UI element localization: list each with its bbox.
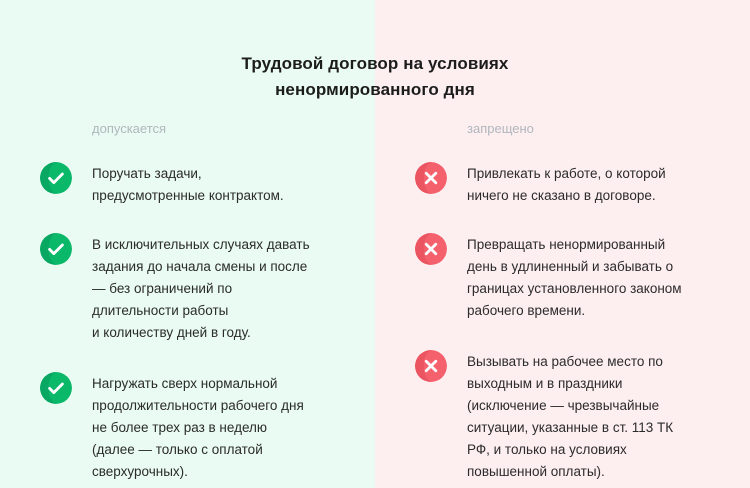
list-item-text: Привлекать к работе, о которой ничего не…	[467, 160, 666, 207]
cross-circle-icon	[415, 162, 447, 194]
list-item: В исключительных случаях давать задания …	[40, 231, 351, 344]
list-item-text: В исключительных случаях давать задания …	[92, 231, 310, 344]
allowed-column: допускается Поручать задачи, предусмотре…	[0, 120, 375, 483]
allowed-items-list: Поручать задачи, предусмотренные контрак…	[40, 160, 351, 483]
forbidden-column-label: запрещено	[467, 120, 726, 138]
allowed-column-label: допускается	[92, 120, 351, 138]
forbidden-column: запрещено Привлекать к работе, о которой…	[375, 120, 750, 483]
list-item: Вызывать на рабочее место по выходным и …	[415, 348, 726, 483]
check-circle-icon	[40, 162, 72, 194]
page-title: Трудовой договор на условиях ненормирова…	[0, 51, 750, 103]
list-item: Нагружать сверх нормальной продолжительн…	[40, 370, 351, 483]
list-item-text: Превращать ненормированный день в удлине…	[467, 231, 682, 322]
list-item-text: Поручать задачи, предусмотренные контрак…	[92, 160, 284, 207]
cross-circle-icon	[415, 350, 447, 382]
check-circle-icon	[40, 233, 72, 265]
check-circle-icon	[40, 372, 72, 404]
forbidden-items-list: Привлекать к работе, о которой ничего не…	[415, 160, 726, 483]
cross-circle-icon	[415, 233, 447, 265]
infographic-root: Трудовой договор на условиях ненормирова…	[0, 0, 750, 488]
list-item: Поручать задачи, предусмотренные контрак…	[40, 160, 351, 207]
list-item: Превращать ненормированный день в удлине…	[415, 231, 726, 322]
columns-container: допускается Поручать задачи, предусмотре…	[0, 120, 750, 483]
list-item: Привлекать к работе, о которой ничего не…	[415, 160, 726, 207]
list-item-text: Вызывать на рабочее место по выходным и …	[467, 348, 673, 483]
list-item-text: Нагружать сверх нормальной продолжительн…	[92, 370, 304, 483]
